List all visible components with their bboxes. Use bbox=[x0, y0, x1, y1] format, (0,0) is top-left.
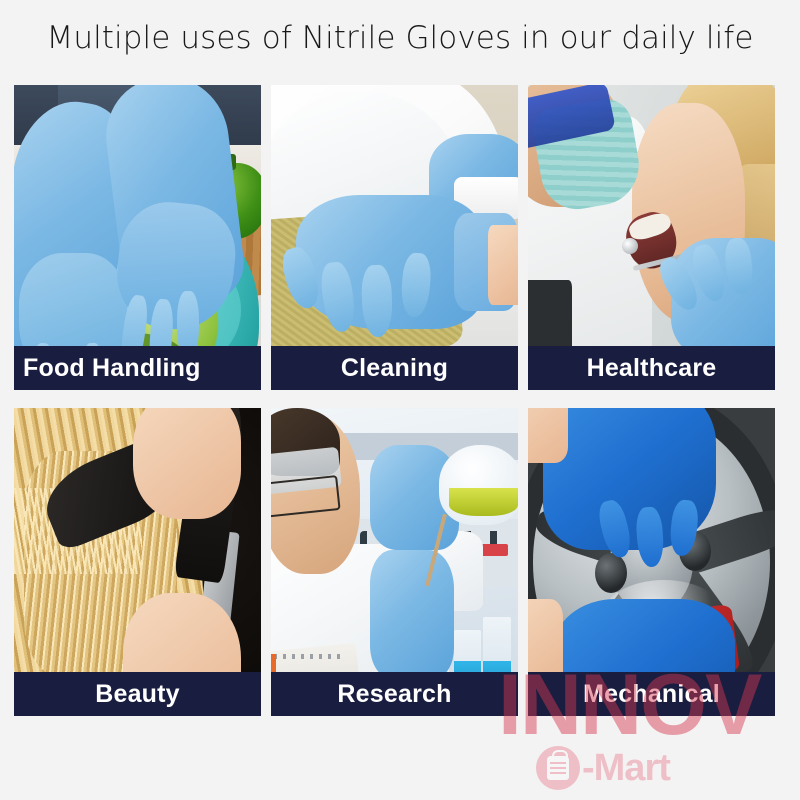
tile-caption-cleaning: Cleaning bbox=[271, 346, 518, 390]
use-case-tile-healthcare[interactable]: Healthcare bbox=[528, 85, 775, 390]
watermark-sub-brand-text: -Mart bbox=[582, 747, 670, 790]
use-case-tile-research[interactable]: Research bbox=[271, 408, 518, 716]
tile-caption-healthcare: Healthcare bbox=[528, 346, 775, 390]
tile-caption-research: Research bbox=[271, 672, 518, 716]
tile-caption-food-handling: Food Handling bbox=[14, 346, 261, 390]
use-case-tile-mechanical[interactable]: Mechanical bbox=[528, 408, 775, 716]
photo-healthcare bbox=[528, 85, 775, 390]
use-case-tile-cleaning[interactable]: Cleaning bbox=[271, 85, 518, 390]
tile-caption-mechanical: Mechanical bbox=[528, 672, 775, 716]
photo-cleaning bbox=[271, 85, 518, 390]
tile-caption-beauty: Beauty bbox=[14, 672, 261, 716]
watermark-logo: -Mart bbox=[536, 746, 670, 790]
photo-food-handling bbox=[14, 85, 261, 390]
use-case-grid: Food Handling Cleaning bbox=[14, 85, 774, 716]
photo-beauty bbox=[14, 408, 261, 716]
shopping-bag-icon bbox=[536, 746, 580, 790]
photo-mechanical bbox=[528, 408, 775, 716]
page-title: Multiple uses of Nitrile Gloves in our d… bbox=[0, 20, 800, 56]
photo-research bbox=[271, 408, 518, 716]
use-case-tile-food-handling[interactable]: Food Handling bbox=[14, 85, 261, 390]
use-case-tile-beauty[interactable]: Beauty bbox=[14, 408, 261, 716]
